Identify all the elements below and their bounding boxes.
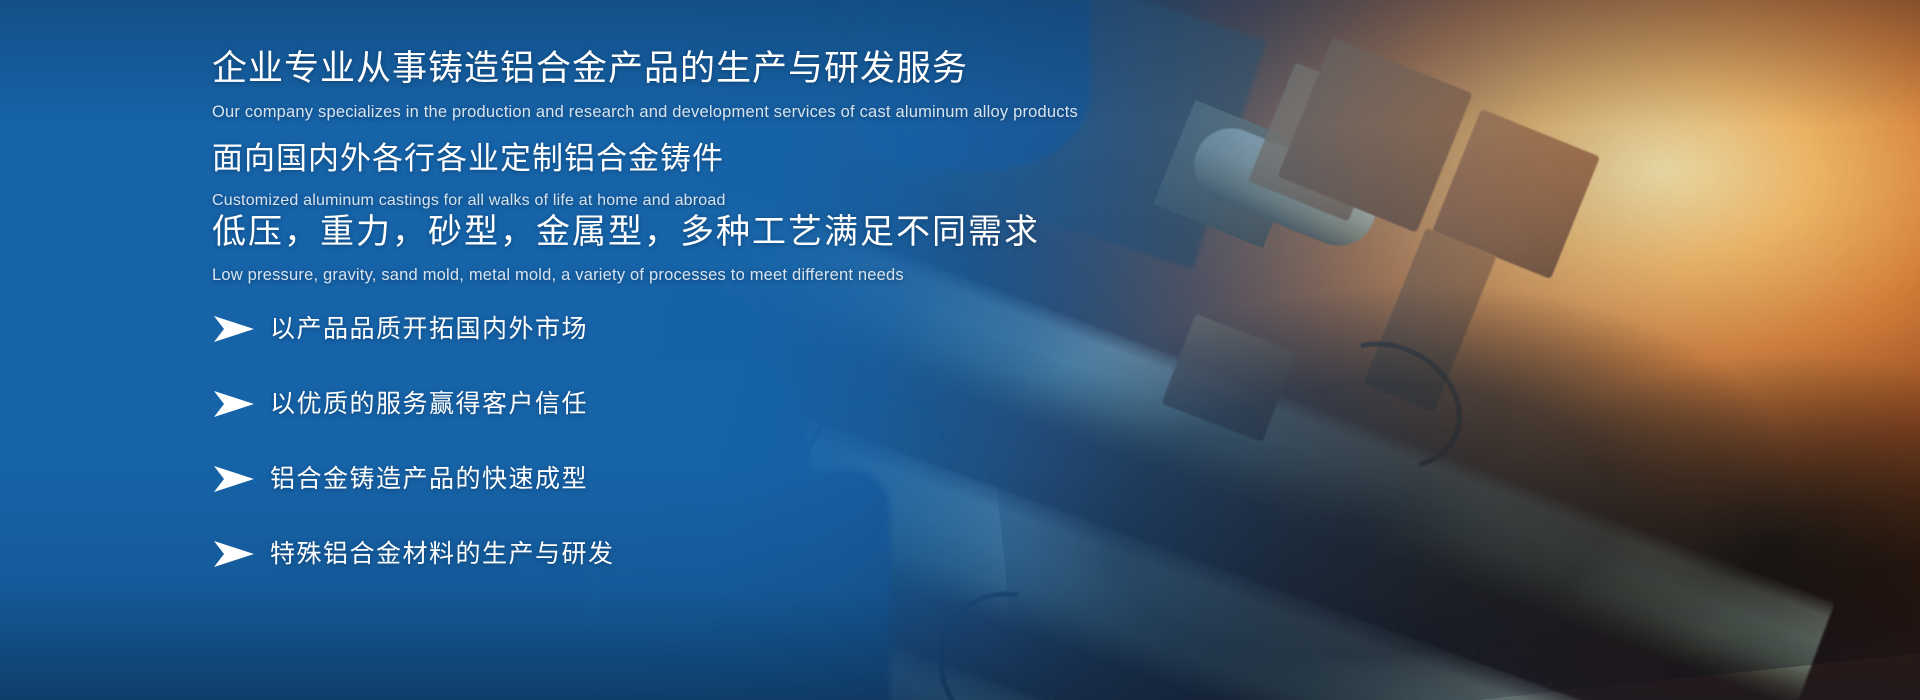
feature-label-4: 特殊铝合金材料的生产与研发 bbox=[270, 542, 615, 567]
headline-3-cn: 低压，重力，砂型，金属型，多种工艺满足不同需求 bbox=[212, 212, 1040, 253]
headline-1-cn: 企业专业从事铸造铝合金产品的生产与研发服务 bbox=[212, 48, 1078, 90]
hero-banner: 企业专业从事铸造铝合金产品的生产与研发服务 Our company specia… bbox=[0, 0, 1920, 700]
headline-2-en: Customized aluminum castings for all wal… bbox=[212, 191, 726, 212]
feature-label-3: 铝合金铸造产品的快速成型 bbox=[270, 467, 588, 492]
headline-2-cn: 面向国内外各行各业定制铝合金铸件 bbox=[212, 140, 726, 177]
list-item: 铝合金铸造产品的快速成型 bbox=[212, 460, 615, 498]
feature-list: 以产品品质开拓国内外市场 以优质的服务赢得客户信任 铝合金铸造产品的快速成型 特… bbox=[212, 310, 615, 610]
arrow-right-icon bbox=[212, 389, 256, 419]
arrow-right-icon bbox=[212, 539, 256, 569]
arrow-right-icon bbox=[212, 314, 256, 344]
list-item: 以产品品质开拓国内外市场 bbox=[212, 310, 615, 348]
list-item: 以优质的服务赢得客户信任 bbox=[212, 385, 615, 423]
headline-block-2: 面向国内外各行各业定制铝合金铸件 Customized aluminum cas… bbox=[212, 140, 726, 212]
headline-3-en: Low pressure, gravity, sand mold, metal … bbox=[212, 265, 1040, 286]
arrow-right-icon bbox=[212, 464, 256, 494]
list-item: 特殊铝合金材料的生产与研发 bbox=[212, 535, 615, 573]
headline-block-3: 低压，重力，砂型，金属型，多种工艺满足不同需求 Low pressure, gr… bbox=[212, 212, 1040, 286]
banner-content: 企业专业从事铸造铝合金产品的生产与研发服务 Our company specia… bbox=[212, 0, 1412, 700]
headline-block-1: 企业专业从事铸造铝合金产品的生产与研发服务 Our company specia… bbox=[212, 48, 1078, 123]
feature-label-1: 以产品品质开拓国内外市场 bbox=[270, 317, 588, 342]
feature-label-2: 以优质的服务赢得客户信任 bbox=[270, 392, 588, 417]
headline-1-en: Our company specializes in the productio… bbox=[212, 102, 1078, 123]
